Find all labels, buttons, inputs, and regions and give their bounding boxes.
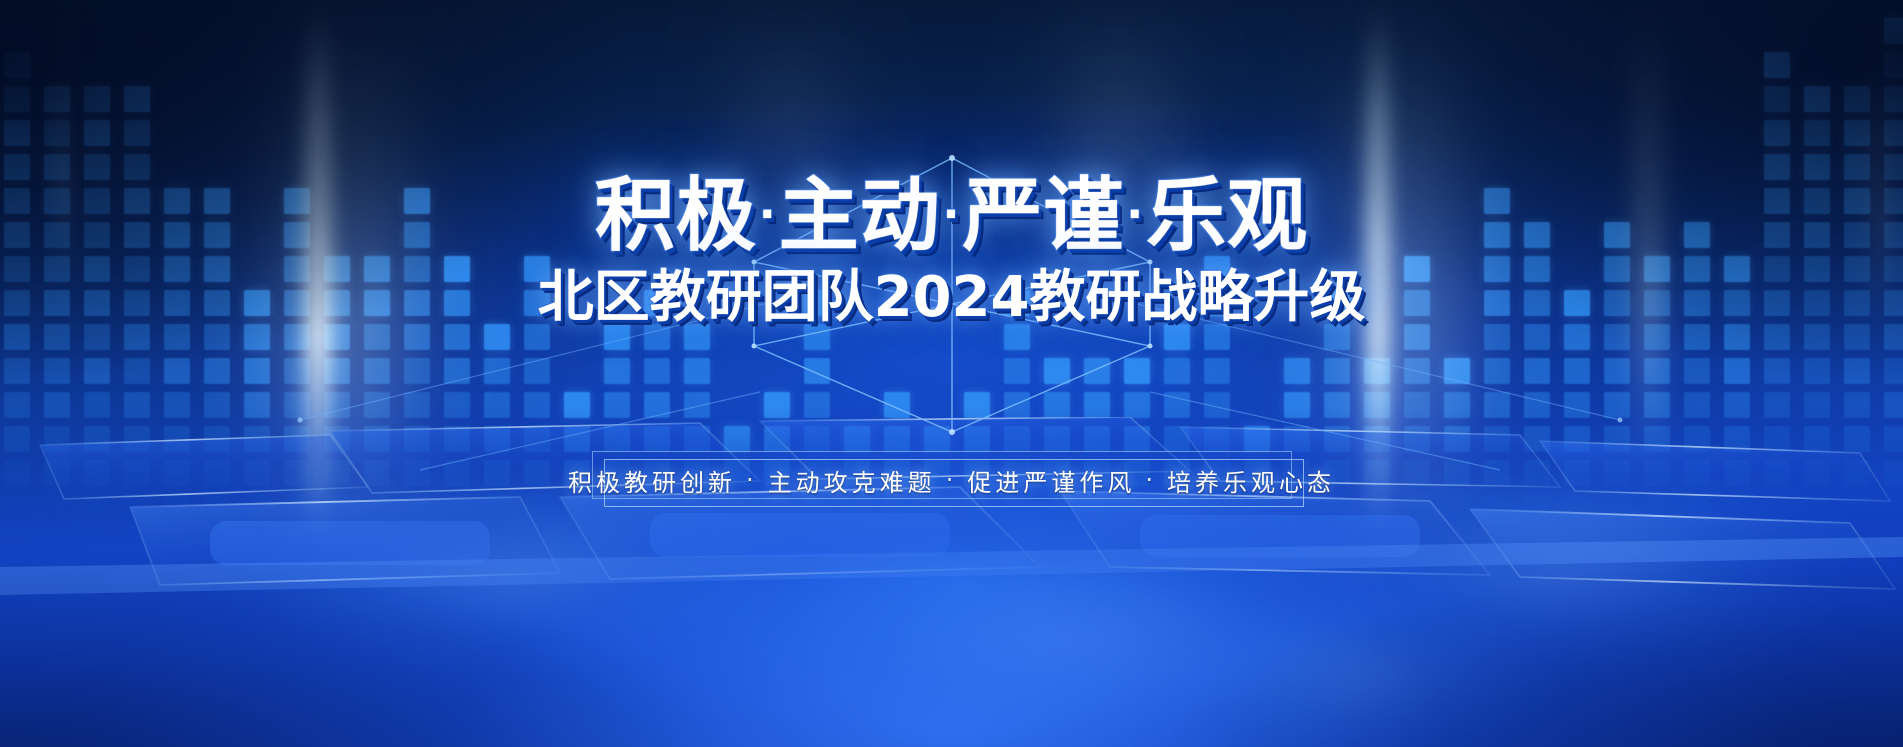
equalizer-block <box>204 324 230 350</box>
equalizer-block <box>1164 358 1190 384</box>
equalizer-block <box>244 324 270 350</box>
equalizer-block <box>284 256 310 282</box>
equalizer-block <box>164 222 190 248</box>
equalizer-block <box>84 324 110 350</box>
equalizer-block <box>1524 324 1550 350</box>
equalizer-block <box>324 392 350 418</box>
equalizer-block <box>4 120 30 146</box>
equalizer-block <box>204 256 230 282</box>
equalizer-block <box>1724 256 1750 282</box>
banner-root: 积极·主动·严谨·乐观 北区教研团队2024教研战略升级 积极教研创新·主动攻克… <box>0 0 1903 747</box>
equalizer-block <box>124 256 150 282</box>
equalizer-block <box>1804 256 1830 282</box>
equalizer-block <box>444 392 470 418</box>
equalizer-block <box>1684 256 1710 282</box>
equalizer-block <box>4 86 30 112</box>
equalizer-block <box>4 358 30 384</box>
equalizer-block <box>524 324 550 350</box>
equalizer-block <box>1604 256 1630 282</box>
equalizer-block <box>444 358 470 384</box>
equalizer-block <box>364 324 390 350</box>
equalizer-block <box>1684 324 1710 350</box>
equalizer-block <box>4 324 30 350</box>
equalizer-block <box>84 256 110 282</box>
equalizer-block <box>404 222 430 248</box>
equalizer-block <box>1804 188 1830 214</box>
equalizer-block <box>1884 188 1903 214</box>
equalizer-block <box>1844 392 1870 418</box>
equalizer-block <box>1204 324 1230 350</box>
equalizer-block <box>684 358 710 384</box>
equalizer-block <box>164 324 190 350</box>
equalizer-block <box>1444 392 1470 418</box>
equalizer-block <box>1284 358 1310 384</box>
equalizer-block <box>1804 222 1830 248</box>
equalizer-block <box>1884 154 1903 180</box>
equalizer-block <box>524 392 550 418</box>
equalizer-block <box>484 358 510 384</box>
equalizer-block <box>1804 324 1830 350</box>
equalizer-block <box>4 392 30 418</box>
equalizer-block <box>84 154 110 180</box>
equalizer-block <box>284 290 310 316</box>
equalizer-block <box>1484 358 1510 384</box>
equalizer-block <box>1324 290 1350 316</box>
equalizer-block <box>44 256 70 282</box>
equalizer-block <box>1364 392 1390 418</box>
equalizer-block <box>1884 120 1903 146</box>
equalizer-block <box>1604 392 1630 418</box>
equalizer-block <box>44 154 70 180</box>
equalizer-block <box>4 256 30 282</box>
equalizer-block <box>1564 290 1590 316</box>
equalizer-block <box>84 222 110 248</box>
equalizer-block <box>564 392 590 418</box>
equalizer-block <box>1764 324 1790 350</box>
equalizer-block <box>284 324 310 350</box>
equalizer-block <box>1604 290 1630 316</box>
equalizer-block <box>1884 222 1903 248</box>
equalizer-block <box>1204 290 1230 316</box>
equalizer-block <box>204 290 230 316</box>
hexagon-wireframe-svg <box>742 150 1162 440</box>
equalizer-block <box>1804 154 1830 180</box>
equalizer-block <box>1484 188 1510 214</box>
equalizer-block <box>1764 290 1790 316</box>
equalizer-block <box>1844 188 1870 214</box>
equalizer-block <box>1164 392 1190 418</box>
equalizer-block <box>204 222 230 248</box>
equalizer-block <box>1484 256 1510 282</box>
equalizer-block <box>324 324 350 350</box>
equalizer-block <box>4 188 30 214</box>
equalizer-block <box>1884 358 1903 384</box>
equalizer-block <box>204 358 230 384</box>
equalizer-block <box>1484 290 1510 316</box>
equalizer-block <box>684 324 710 350</box>
equalizer-block <box>1844 256 1870 282</box>
equalizer-block <box>364 256 390 282</box>
equalizer-block <box>1764 120 1790 146</box>
equalizer-block <box>44 222 70 248</box>
equalizer-block <box>604 358 630 384</box>
equalizer-block <box>44 358 70 384</box>
equalizer-block <box>324 358 350 384</box>
equalizer-block <box>1324 324 1350 350</box>
equalizer-block <box>164 188 190 214</box>
equalizer-block <box>1764 86 1790 112</box>
equalizer-block <box>84 358 110 384</box>
equalizer-block <box>124 86 150 112</box>
equalizer-block <box>1524 358 1550 384</box>
equalizer-block <box>1764 358 1790 384</box>
equalizer-block <box>644 392 670 418</box>
equalizer-block <box>404 392 430 418</box>
equalizer-block <box>1204 392 1230 418</box>
equalizer-block <box>1764 188 1790 214</box>
equalizer-block <box>44 290 70 316</box>
equalizer-block <box>1884 392 1903 418</box>
equalizer-block <box>1684 290 1710 316</box>
equalizer-block <box>364 358 390 384</box>
equalizer-block <box>84 188 110 214</box>
equalizer-block <box>124 324 150 350</box>
equalizer-block <box>1884 256 1903 282</box>
equalizer-block <box>1564 324 1590 350</box>
equalizer-block <box>1844 358 1870 384</box>
equalizer-block <box>1884 52 1903 78</box>
equalizer-block <box>44 188 70 214</box>
equalizer-block <box>1684 392 1710 418</box>
equalizer-block <box>404 188 430 214</box>
equalizer-block <box>84 392 110 418</box>
equalizer-block <box>1764 256 1790 282</box>
equalizer-block <box>1524 392 1550 418</box>
equalizer-block <box>524 358 550 384</box>
equalizer-block <box>44 392 70 418</box>
equalizer-block <box>1484 324 1510 350</box>
equalizer-block <box>44 120 70 146</box>
equalizer-block <box>604 392 630 418</box>
equalizer-block <box>284 222 310 248</box>
equalizer-block <box>1884 290 1903 316</box>
equalizer-block <box>1804 392 1830 418</box>
equalizer-block <box>1764 154 1790 180</box>
equalizer-block <box>124 154 150 180</box>
equalizer-block <box>1804 358 1830 384</box>
equalizer-block <box>524 256 550 282</box>
equalizer-block <box>1804 86 1830 112</box>
equalizer-block <box>1724 358 1750 384</box>
equalizer-block <box>1844 120 1870 146</box>
equalizer-block <box>1404 392 1430 418</box>
equalizer-block <box>1644 256 1670 282</box>
equalizer-block <box>124 358 150 384</box>
equalizer-block <box>644 358 670 384</box>
equalizer-block <box>44 324 70 350</box>
equalizer-block <box>1644 324 1670 350</box>
equalizer-block <box>404 290 430 316</box>
equalizer-block <box>244 290 270 316</box>
equalizer-block <box>284 392 310 418</box>
equalizer-block <box>124 222 150 248</box>
equalizer-block <box>1844 154 1870 180</box>
equalizer-block <box>164 256 190 282</box>
equalizer-block <box>204 392 230 418</box>
equalizer-block <box>484 392 510 418</box>
equalizer-block <box>1724 392 1750 418</box>
equalizer-block <box>1564 392 1590 418</box>
equalizer-block <box>484 324 510 350</box>
equalizer-block <box>1804 120 1830 146</box>
equalizer-block <box>1644 290 1670 316</box>
equalizer-block <box>524 290 550 316</box>
equalizer-block <box>1404 324 1430 350</box>
equalizer-block <box>164 358 190 384</box>
equalizer-block <box>204 188 230 214</box>
equalizer-block <box>1884 18 1903 44</box>
equalizer-block <box>1764 222 1790 248</box>
equalizer-block <box>44 86 70 112</box>
equalizer-block <box>1444 358 1470 384</box>
equalizer-block <box>1604 324 1630 350</box>
equalizer-block <box>1404 358 1430 384</box>
equalizer-block <box>1404 290 1430 316</box>
equalizer-block <box>444 290 470 316</box>
equalizer-block <box>284 188 310 214</box>
equalizer-block <box>1844 86 1870 112</box>
equalizer-block <box>1844 290 1870 316</box>
equalizer-block <box>684 392 710 418</box>
equalizer-block <box>1524 290 1550 316</box>
equalizer-block <box>1644 392 1670 418</box>
equalizer-block <box>4 290 30 316</box>
hexagon-wireframe <box>742 150 1162 445</box>
equalizer-block <box>84 290 110 316</box>
equalizer-block <box>1484 392 1510 418</box>
equalizer-block <box>1604 358 1630 384</box>
equalizer-block <box>1844 222 1870 248</box>
equalizer-block <box>1484 222 1510 248</box>
equalizer-block <box>84 120 110 146</box>
equalizer-block <box>1644 358 1670 384</box>
equalizer-block <box>1364 358 1390 384</box>
equalizer-block <box>444 324 470 350</box>
equalizer-block <box>4 52 30 78</box>
equalizer-block <box>404 358 430 384</box>
equalizer-block <box>1284 392 1310 418</box>
equalizer-block <box>1204 256 1230 282</box>
equalizer-block <box>324 290 350 316</box>
equalizer-block <box>1404 256 1430 282</box>
equalizer-block <box>1764 392 1790 418</box>
equalizer-block <box>324 256 350 282</box>
equalizer-block <box>244 358 270 384</box>
equalizer-block <box>1524 256 1550 282</box>
equalizer-block <box>1564 358 1590 384</box>
equalizer-block <box>1804 290 1830 316</box>
equalizer-block <box>1684 358 1710 384</box>
equalizer-block <box>164 392 190 418</box>
equalizer-block <box>284 358 310 384</box>
equalizer-block <box>1684 222 1710 248</box>
equalizer-block <box>1324 392 1350 418</box>
equalizer-block <box>1164 324 1190 350</box>
equalizer-block <box>1764 52 1790 78</box>
equalizer-block <box>364 290 390 316</box>
equalizer-block <box>124 188 150 214</box>
equalizer-block <box>84 86 110 112</box>
equalizer-block <box>644 324 670 350</box>
floor-center-glow <box>0 417 1903 747</box>
equalizer-block <box>124 392 150 418</box>
equalizer-block <box>124 290 150 316</box>
equalizer-block <box>4 222 30 248</box>
equalizer-block <box>1724 324 1750 350</box>
equalizer-block <box>1324 358 1350 384</box>
equalizer-block <box>404 324 430 350</box>
equalizer-block <box>124 120 150 146</box>
equalizer-block <box>644 290 670 316</box>
equalizer-block <box>244 392 270 418</box>
perspective-tile-floor <box>0 417 1903 747</box>
equalizer-block <box>1604 222 1630 248</box>
equalizer-block <box>1524 222 1550 248</box>
equalizer-block <box>4 154 30 180</box>
equalizer-block <box>1844 324 1870 350</box>
equalizer-block <box>444 256 470 282</box>
equalizer-block <box>1724 290 1750 316</box>
equalizer-block <box>404 256 430 282</box>
equalizer-block <box>1884 324 1903 350</box>
equalizer-block <box>604 324 630 350</box>
equalizer-block <box>1204 358 1230 384</box>
equalizer-block <box>364 392 390 418</box>
equalizer-block <box>1884 86 1903 112</box>
equalizer-block <box>164 290 190 316</box>
